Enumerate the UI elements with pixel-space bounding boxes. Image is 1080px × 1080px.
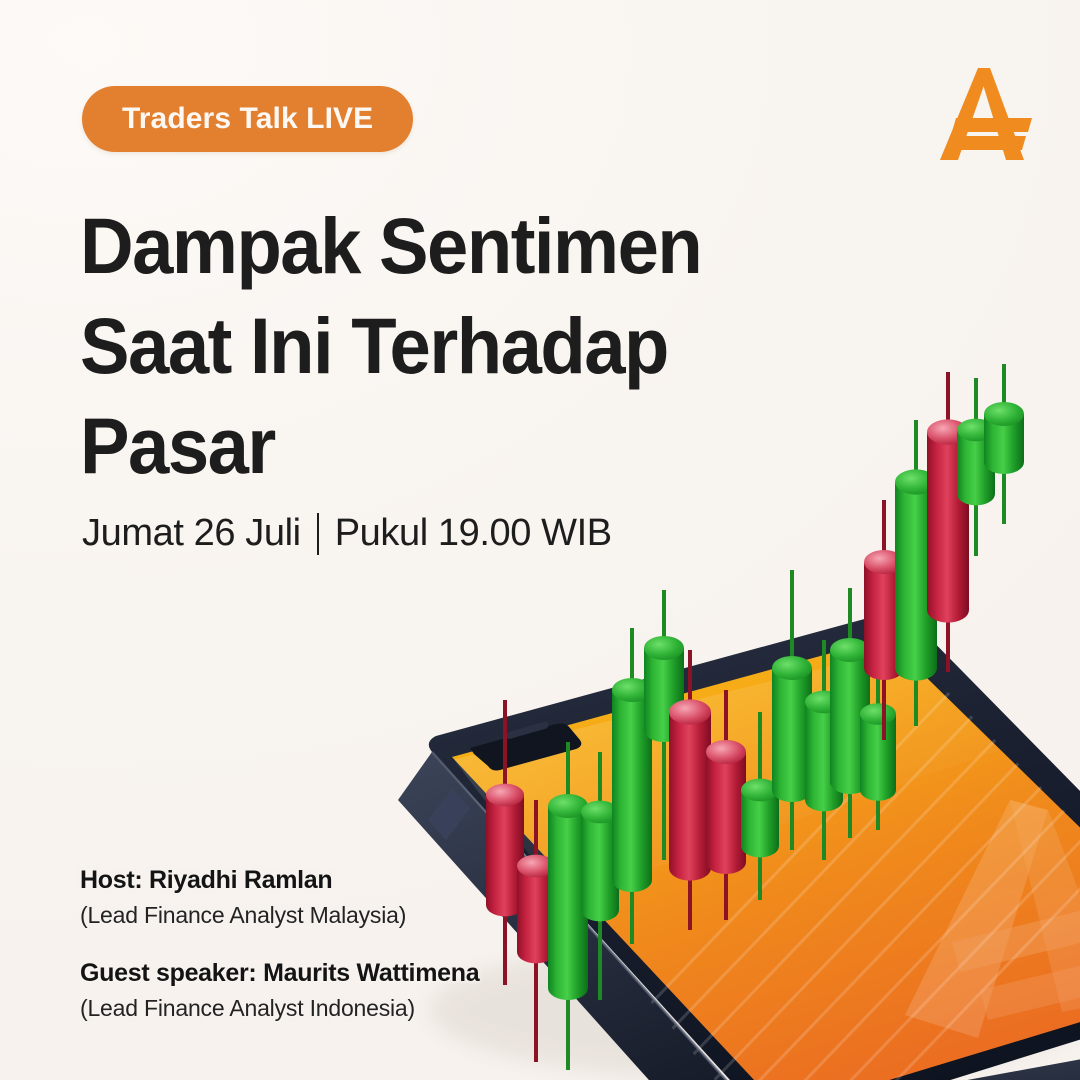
ascendex-a-logo bbox=[928, 62, 1036, 166]
promo-poster: Traders Talk LIVE Dampak Sentimen Saat I… bbox=[0, 0, 1080, 1080]
credit-guest: Guest speaker: Maurits Wattimena (Lead F… bbox=[80, 959, 600, 1022]
schedule-separator bbox=[317, 513, 319, 555]
headline-line-1: Dampak Sentimen bbox=[80, 196, 813, 296]
schedule-line: Jumat 26 Juli Pukul 19.00 WIB bbox=[82, 512, 612, 555]
credit-host: Host: Riyadhi Ramlan (Lead Finance Analy… bbox=[80, 866, 600, 929]
live-badge[interactable]: Traders Talk LIVE bbox=[82, 86, 413, 152]
live-badge-label: Traders Talk LIVE bbox=[122, 102, 373, 136]
schedule-date: Jumat 26 Juli bbox=[82, 512, 301, 555]
schedule-time: Pukul 19.00 WIB bbox=[335, 512, 612, 555]
headline-line-2: Saat Ini Terhadap bbox=[80, 296, 813, 396]
headline-line-3: Pasar bbox=[80, 396, 813, 496]
page-title: Dampak Sentimen Saat Ini Terhadap Pasar bbox=[80, 196, 860, 496]
credit-guest-name: Guest speaker: Maurits Wattimena bbox=[80, 959, 600, 988]
speaker-credits: Host: Riyadhi Ramlan (Lead Finance Analy… bbox=[80, 866, 600, 1022]
credit-host-role: (Lead Finance Analyst Malaysia) bbox=[80, 902, 600, 929]
credit-guest-role: (Lead Finance Analyst Indonesia) bbox=[80, 995, 600, 1022]
credit-host-name: Host: Riyadhi Ramlan bbox=[80, 866, 600, 895]
